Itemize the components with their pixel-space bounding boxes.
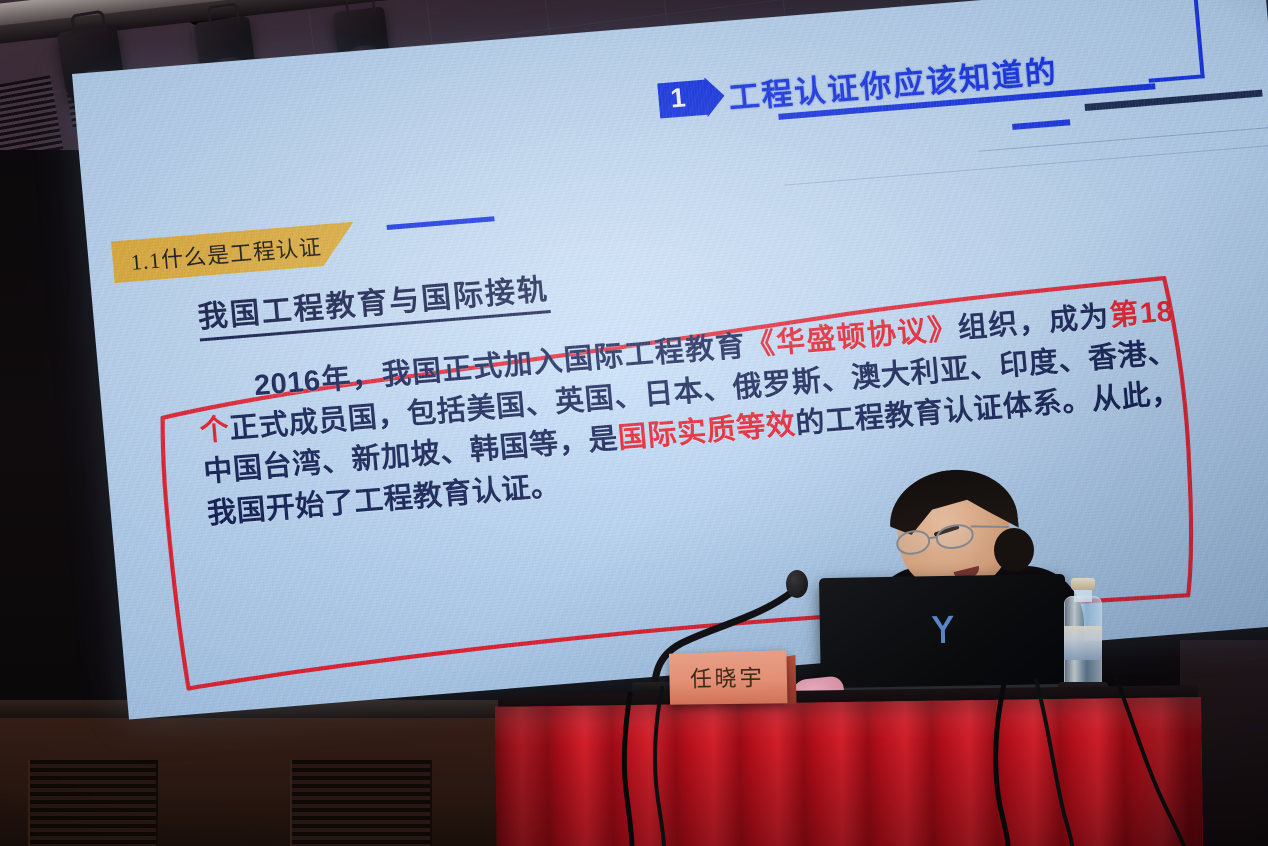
section-number: 1: [669, 84, 686, 112]
body-seg-highlight: 国际实质等效: [617, 409, 797, 455]
banner-accent-rule: [387, 216, 495, 230]
wall-vent-icon: [28, 760, 158, 846]
decor-hairline: [785, 144, 1268, 185]
bottle-cap: [1071, 578, 1095, 590]
presenter-hair-bun: [994, 528, 1034, 572]
body-seg: 组织，成为: [957, 301, 1111, 345]
glasses-temple: [971, 525, 1009, 528]
decor-rule-blue: [1012, 119, 1070, 130]
title-corner-bracket: [1140, 0, 1205, 83]
photo-scene: 1 工程认证你应该知道的 1.1什么是工程认证 我国工程教育与国际接轨: [0, 0, 1268, 846]
microphone-capsule: [786, 570, 808, 598]
bottle-label: [1064, 626, 1102, 660]
glasses-lens: [895, 528, 932, 556]
wall-vent-icon: [290, 760, 432, 846]
section-banner: 1.1什么是工程认证: [111, 222, 357, 284]
glasses-lens: [934, 522, 975, 551]
section-number-badge: 1: [657, 76, 726, 121]
section-banner-label: 1.1什么是工程认证: [129, 229, 323, 276]
cables: [480, 660, 1240, 846]
legion-y-logo-icon: [929, 614, 958, 644]
